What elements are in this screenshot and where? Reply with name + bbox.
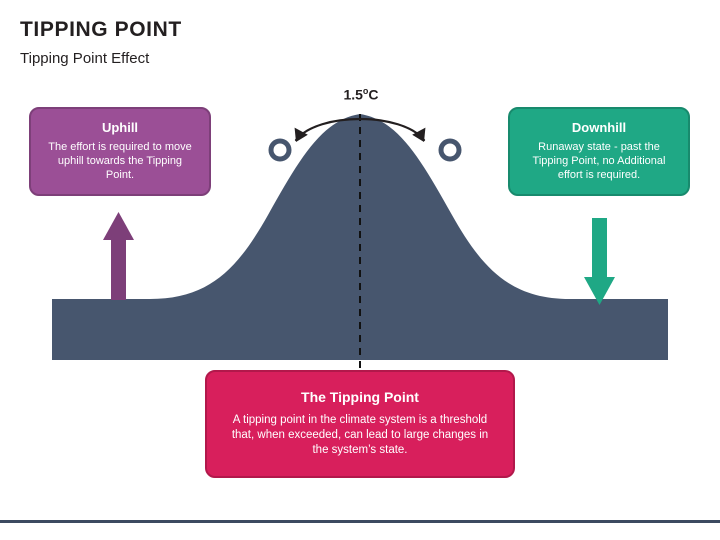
uphill-arrow-icon [103,212,134,300]
temperature-label: 1.5oC [311,86,411,103]
page-title: TIPPING POINT [20,18,182,42]
page-subtitle: Tipping Point Effect [20,50,149,67]
callout-downhill-title: Downhill [522,120,676,135]
right-ball-marker [441,141,459,159]
callout-tipping-point-title: The Tipping Point [229,389,491,405]
callout-downhill[interactable]: Downhill Runaway state - past the Tippin… [508,107,690,196]
arc-arrowhead-left [289,128,308,146]
bottom-divider [0,520,720,523]
downhill-arrow-icon [584,218,615,305]
temperature-unit: C [368,87,378,103]
callout-uphill-body: The effort is required to move uphill to… [43,140,197,182]
callout-uphill-title: Uphill [43,120,197,135]
summit-arc [296,119,424,140]
left-ball-marker [271,141,289,159]
callout-uphill[interactable]: Uphill The effort is required to move up… [29,107,211,196]
arc-arrowhead-right [412,128,431,146]
temperature-value: 1.5 [343,87,362,103]
callout-tipping-point[interactable]: The Tipping Point A tipping point in the… [205,370,515,478]
slide-canvas: TIPPING POINT Tipping Point Effect 1.5oC… [0,0,720,540]
callout-downhill-body: Runaway state - past the Tipping Point, … [522,140,676,182]
callout-tipping-point-body: A tipping point in the climate system is… [229,413,491,458]
